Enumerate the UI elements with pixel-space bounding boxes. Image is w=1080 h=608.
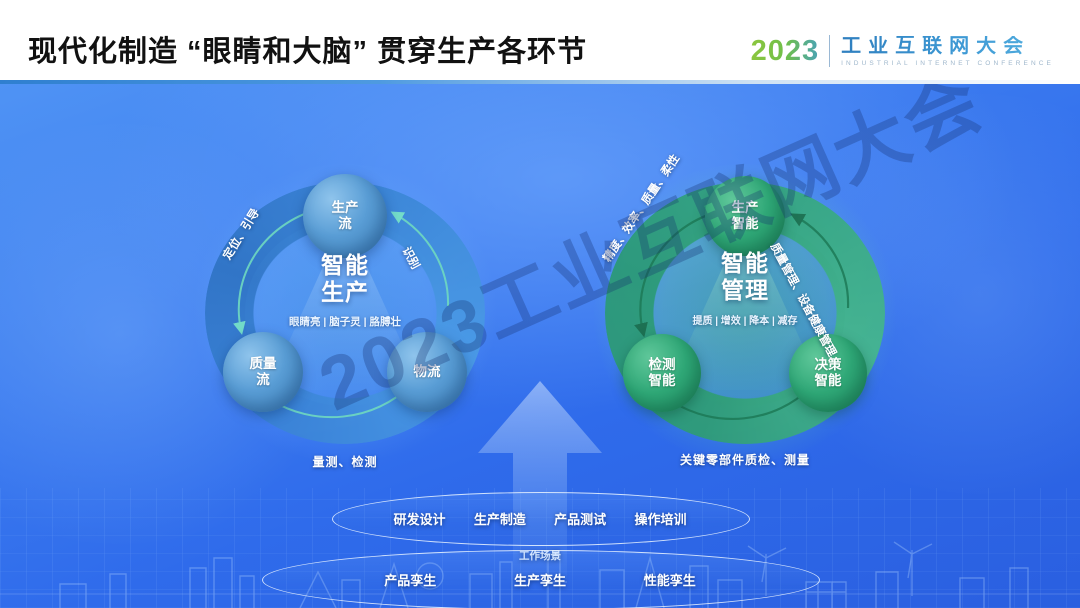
green-node-production-intelligence-line1: 生产	[732, 200, 759, 216]
layer-item-performance-twin[interactable]: 性能孪生	[644, 570, 696, 589]
blue-node-production-flow-line2: 流	[338, 216, 352, 232]
blue-center-label: 智能 生产 眼睛亮 | 脑子灵 | 胳膊壮	[267, 252, 423, 329]
green-node-decision-intelligence-line1: 决策	[815, 357, 842, 373]
layer-item-production-twin[interactable]: 生产孪生	[514, 570, 566, 589]
green-center-title-line1: 智能	[663, 250, 827, 277]
green-arc-label-bottom: 关键零部件质检、测量	[680, 451, 810, 468]
intelligent-management-diagram: 生产 智能 检测 智能 决策 智能 智能 管理 提质 | 增效 | 降本 | 减…	[605, 182, 885, 444]
logo-divider	[829, 35, 830, 67]
slide-root: 现代化制造 “眼睛和大脑” 贯穿生产各环节 2023 工业互联网大会 INDUS…	[0, 0, 1080, 608]
logo-english-name: INDUSTRIAL INTERNET CONFERENCE	[841, 60, 1054, 67]
layer-work-object: 产品孪生 生产孪生 性能孪生 工作对象	[262, 550, 818, 608]
intelligent-production-diagram: 生产 流 质量 流 物流 智能 生产 眼睛亮 | 脑子灵 | 胳膊壮 定位、引导	[205, 182, 485, 444]
layer-work-object-items: 产品孪生 生产孪生 性能孪生	[262, 550, 818, 608]
logo-chinese-name: 工业互联网大会	[841, 36, 1054, 57]
blue-center-subtitle: 眼睛亮 | 脑子灵 | 胳膊壮	[267, 314, 423, 329]
logo-text-group: 工业互联网大会 INDUSTRIAL INTERNET CONFERENCE	[841, 36, 1054, 67]
blue-node-quality-flow-line2: 流	[256, 372, 270, 388]
layer-work-scene-items: 研发设计 生产制造 产品测试 操作培训	[332, 492, 748, 544]
blue-node-production-flow[interactable]: 生产 流	[303, 174, 387, 258]
blue-node-logistics-line1: 物流	[414, 364, 441, 380]
blue-node-production-flow-line1: 生产	[332, 200, 359, 216]
slide-header: 现代化制造 “眼睛和大脑” 贯穿生产各环节 2023 工业互联网大会 INDUS…	[0, 0, 1080, 84]
layer-item-rd-design[interactable]: 研发设计	[394, 509, 446, 528]
slide-body: 生产 流 质量 流 物流 智能 生产 眼睛亮 | 脑子灵 | 胳膊壮 定位、引导	[0, 84, 1080, 608]
layer-item-product-twin[interactable]: 产品孪生	[384, 570, 436, 589]
conference-logo: 2023 工业互联网大会 INDUSTRIAL INTERNET CONFERE…	[751, 29, 1054, 73]
green-node-inspection-intelligence-line2: 智能	[649, 373, 676, 389]
green-node-decision-intelligence-line2: 智能	[815, 373, 842, 389]
blue-center-title: 智能 生产	[267, 252, 423, 305]
green-node-inspection-intelligence[interactable]: 检测 智能	[623, 334, 701, 412]
page-title: 现代化制造 “眼睛和大脑” 贯穿生产各环节	[28, 28, 587, 70]
blue-center-title-line2: 生产	[267, 279, 423, 306]
blue-node-quality-flow[interactable]: 质量 流	[223, 332, 303, 412]
blue-arc-label-bottom: 量测、检测	[312, 453, 377, 470]
blue-node-quality-flow-line1: 质量	[250, 356, 277, 372]
layer-item-manufacturing[interactable]: 生产制造	[474, 509, 526, 528]
layer-item-operation-training[interactable]: 操作培训	[634, 509, 686, 528]
blue-center-title-line1: 智能	[267, 252, 423, 279]
layer-item-product-testing[interactable]: 产品测试	[554, 509, 606, 528]
green-node-inspection-intelligence-line1: 检测	[649, 357, 676, 373]
green-node-production-intelligence-line2: 智能	[732, 216, 759, 232]
logo-year-text: 2023	[751, 37, 830, 66]
layer-work-scene: 研发设计 生产制造 产品测试 操作培训 工作场景	[332, 492, 748, 544]
blue-node-logistics[interactable]: 物流	[387, 332, 467, 412]
